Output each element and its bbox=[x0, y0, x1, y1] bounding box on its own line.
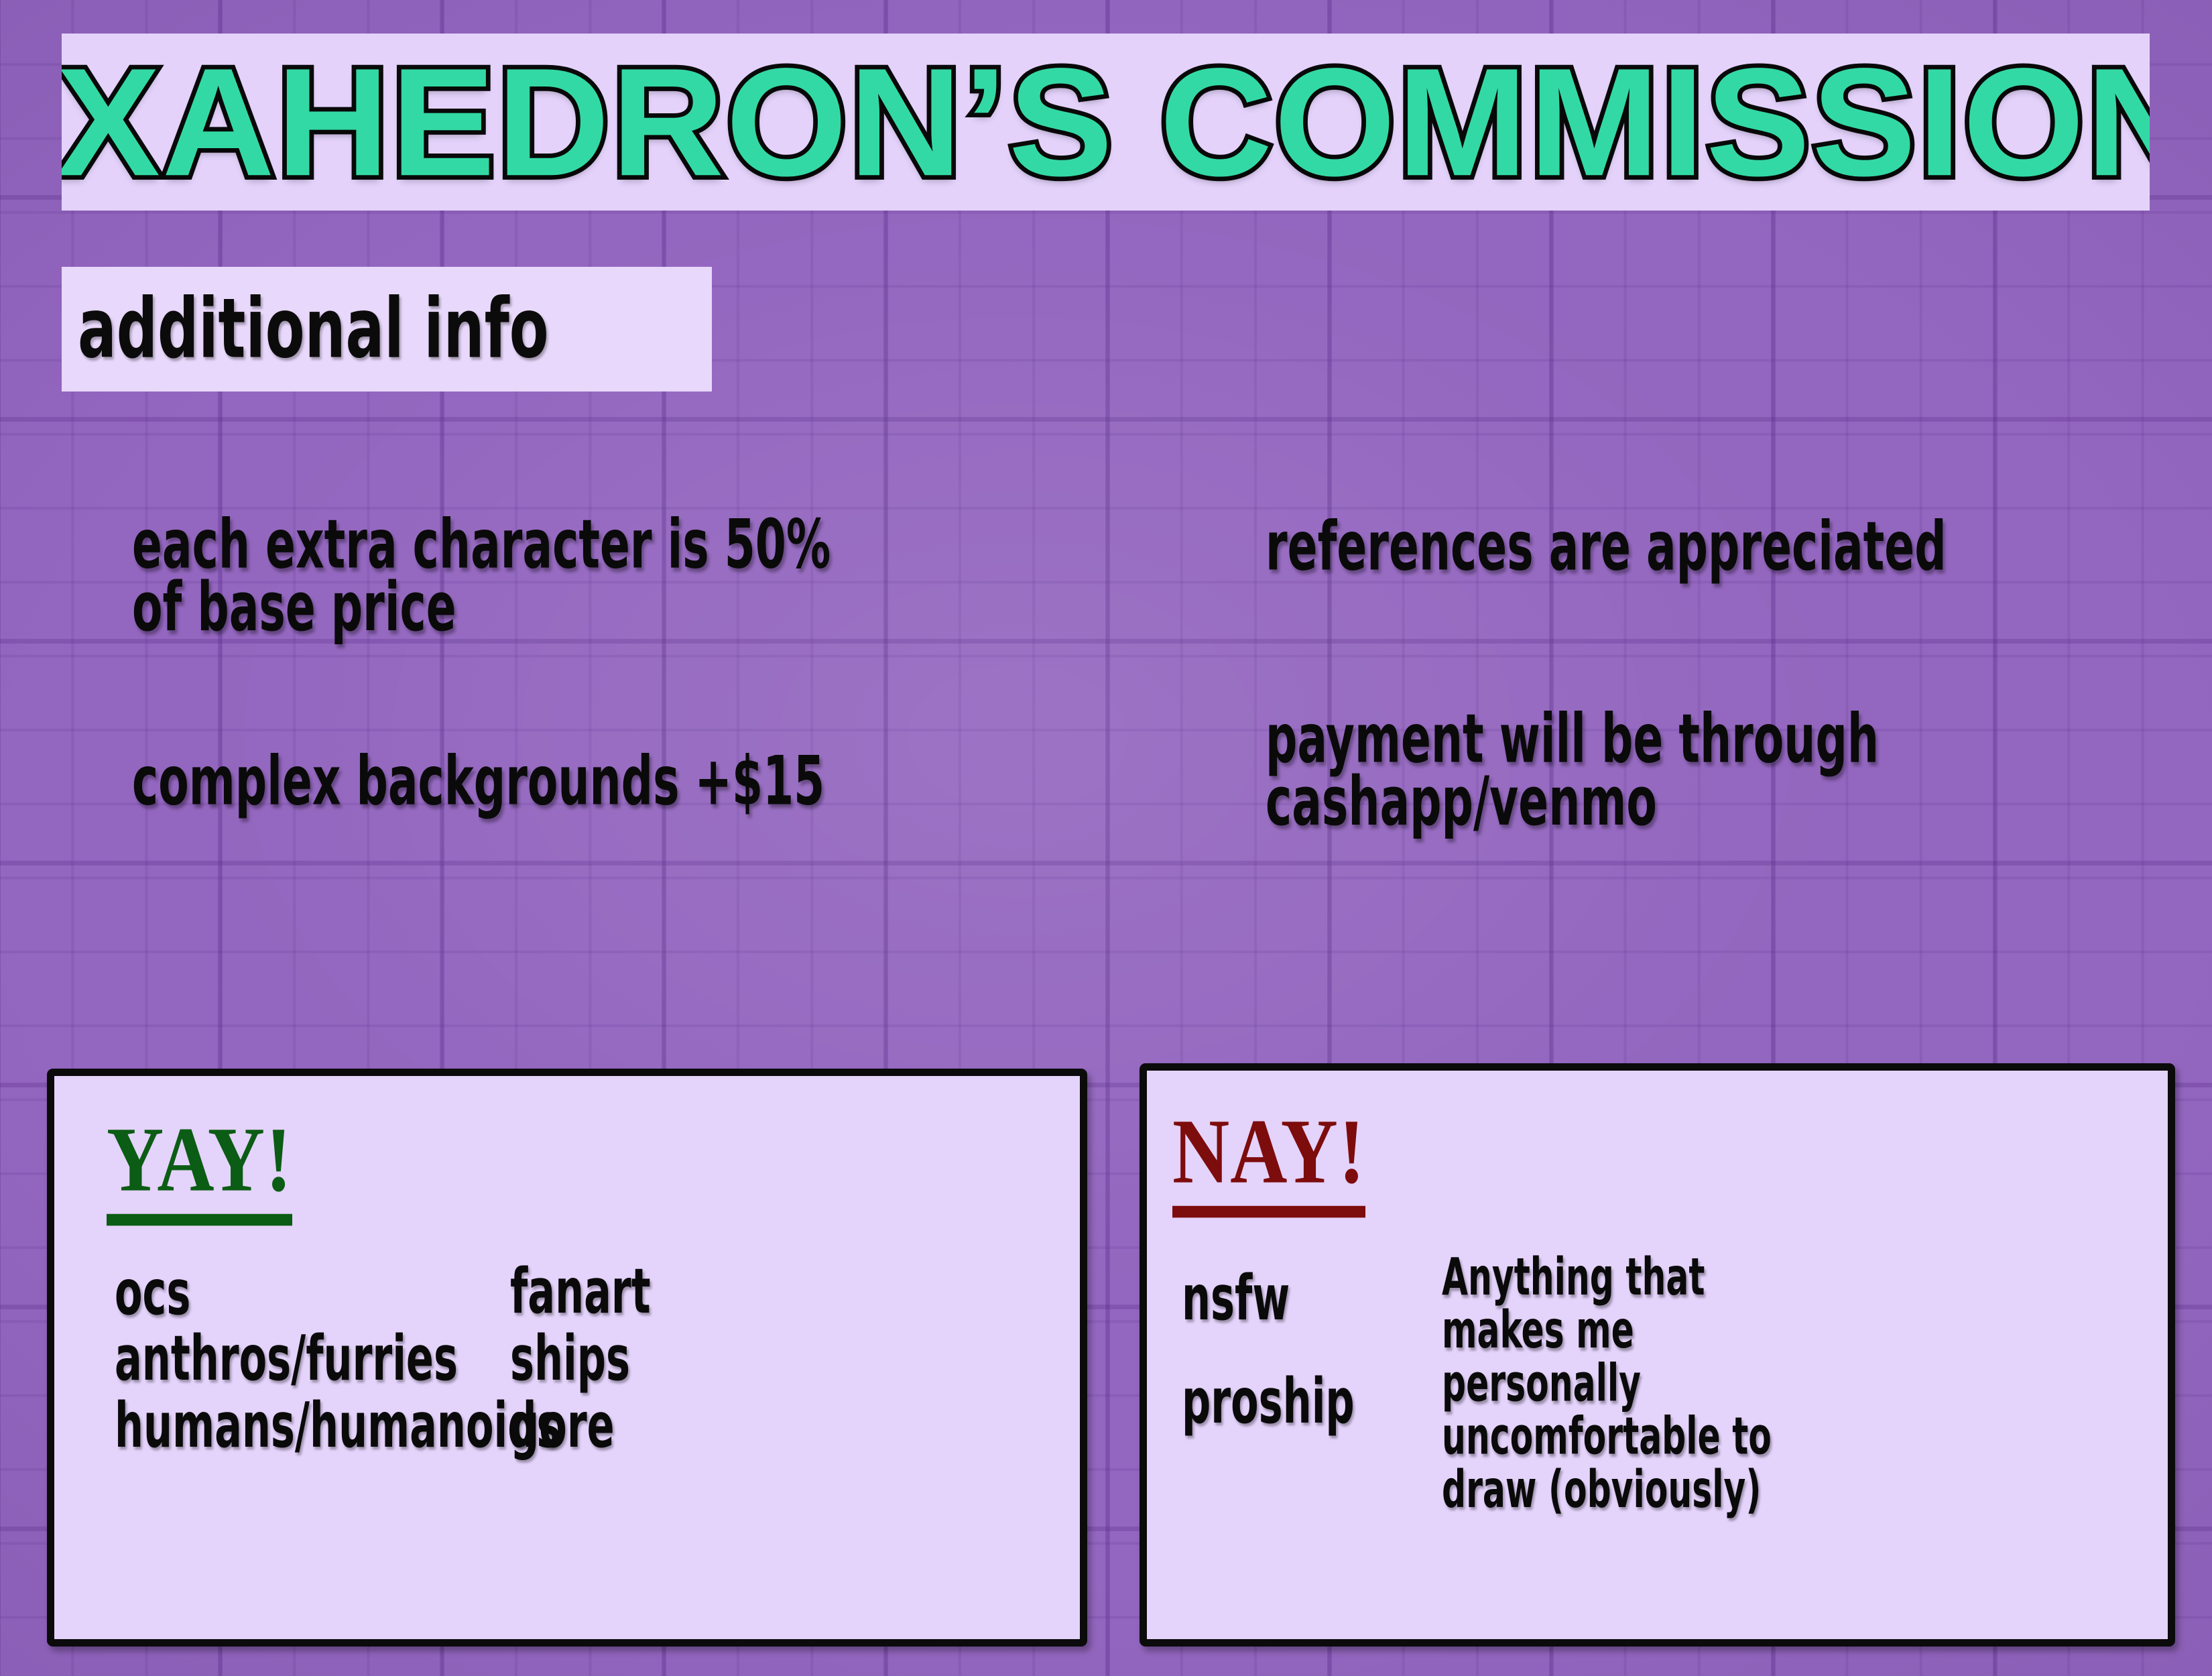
note-complex-background-price: complex backgrounds +$15 bbox=[132, 750, 1097, 813]
nay-heading: NAY! bbox=[1172, 1105, 1365, 1217]
yay-heading-underline bbox=[107, 1214, 292, 1226]
yay-panel: YAY! ocs anthros/furries humans/humanoid… bbox=[47, 1069, 1087, 1647]
nay-item-proship: proship bbox=[1182, 1372, 1355, 1431]
yay-item-anthros-furries: anthros/furries bbox=[115, 1329, 458, 1388]
nay-panel: NAY! nsfw proship Anything that makes me… bbox=[1140, 1063, 2175, 1647]
yay-heading: YAY! bbox=[107, 1114, 292, 1225]
yay-item-gore: gore bbox=[510, 1396, 615, 1455]
title-banner: VIXAHEDRON’S COMMISSIONS bbox=[62, 34, 2150, 211]
yay-item-humans-humanoids: humans/humanoids bbox=[115, 1396, 560, 1455]
nay-item-nsfw: nsfw bbox=[1182, 1269, 1290, 1328]
yay-item-ships: ships bbox=[510, 1329, 630, 1388]
section-label-banner: additional info bbox=[62, 267, 712, 392]
yay-heading-text: YAY! bbox=[107, 1108, 292, 1211]
nay-heading-text: NAY! bbox=[1172, 1100, 1365, 1203]
page-title: VIXAHEDRON’S COMMISSIONS bbox=[62, 45, 2150, 198]
yay-item-ocs: ocs bbox=[115, 1264, 190, 1323]
nay-heading-underline bbox=[1172, 1206, 1365, 1218]
section-label-text: additional info bbox=[78, 288, 549, 371]
note-payment-method: payment will be through cashapp/venmo bbox=[1266, 708, 2212, 833]
yay-item-fanart: fanart bbox=[510, 1262, 651, 1321]
nay-item-personal-discomfort-note: Anything that makes me personally uncomf… bbox=[1442, 1250, 1817, 1516]
note-extra-character-price: each extra character is 50% of base pric… bbox=[132, 514, 1097, 638]
poster-canvas: VIXAHEDRON’S COMMISSIONS additional info… bbox=[0, 0, 2212, 1676]
note-references-appreciated: references are appreciated bbox=[1266, 516, 2212, 578]
